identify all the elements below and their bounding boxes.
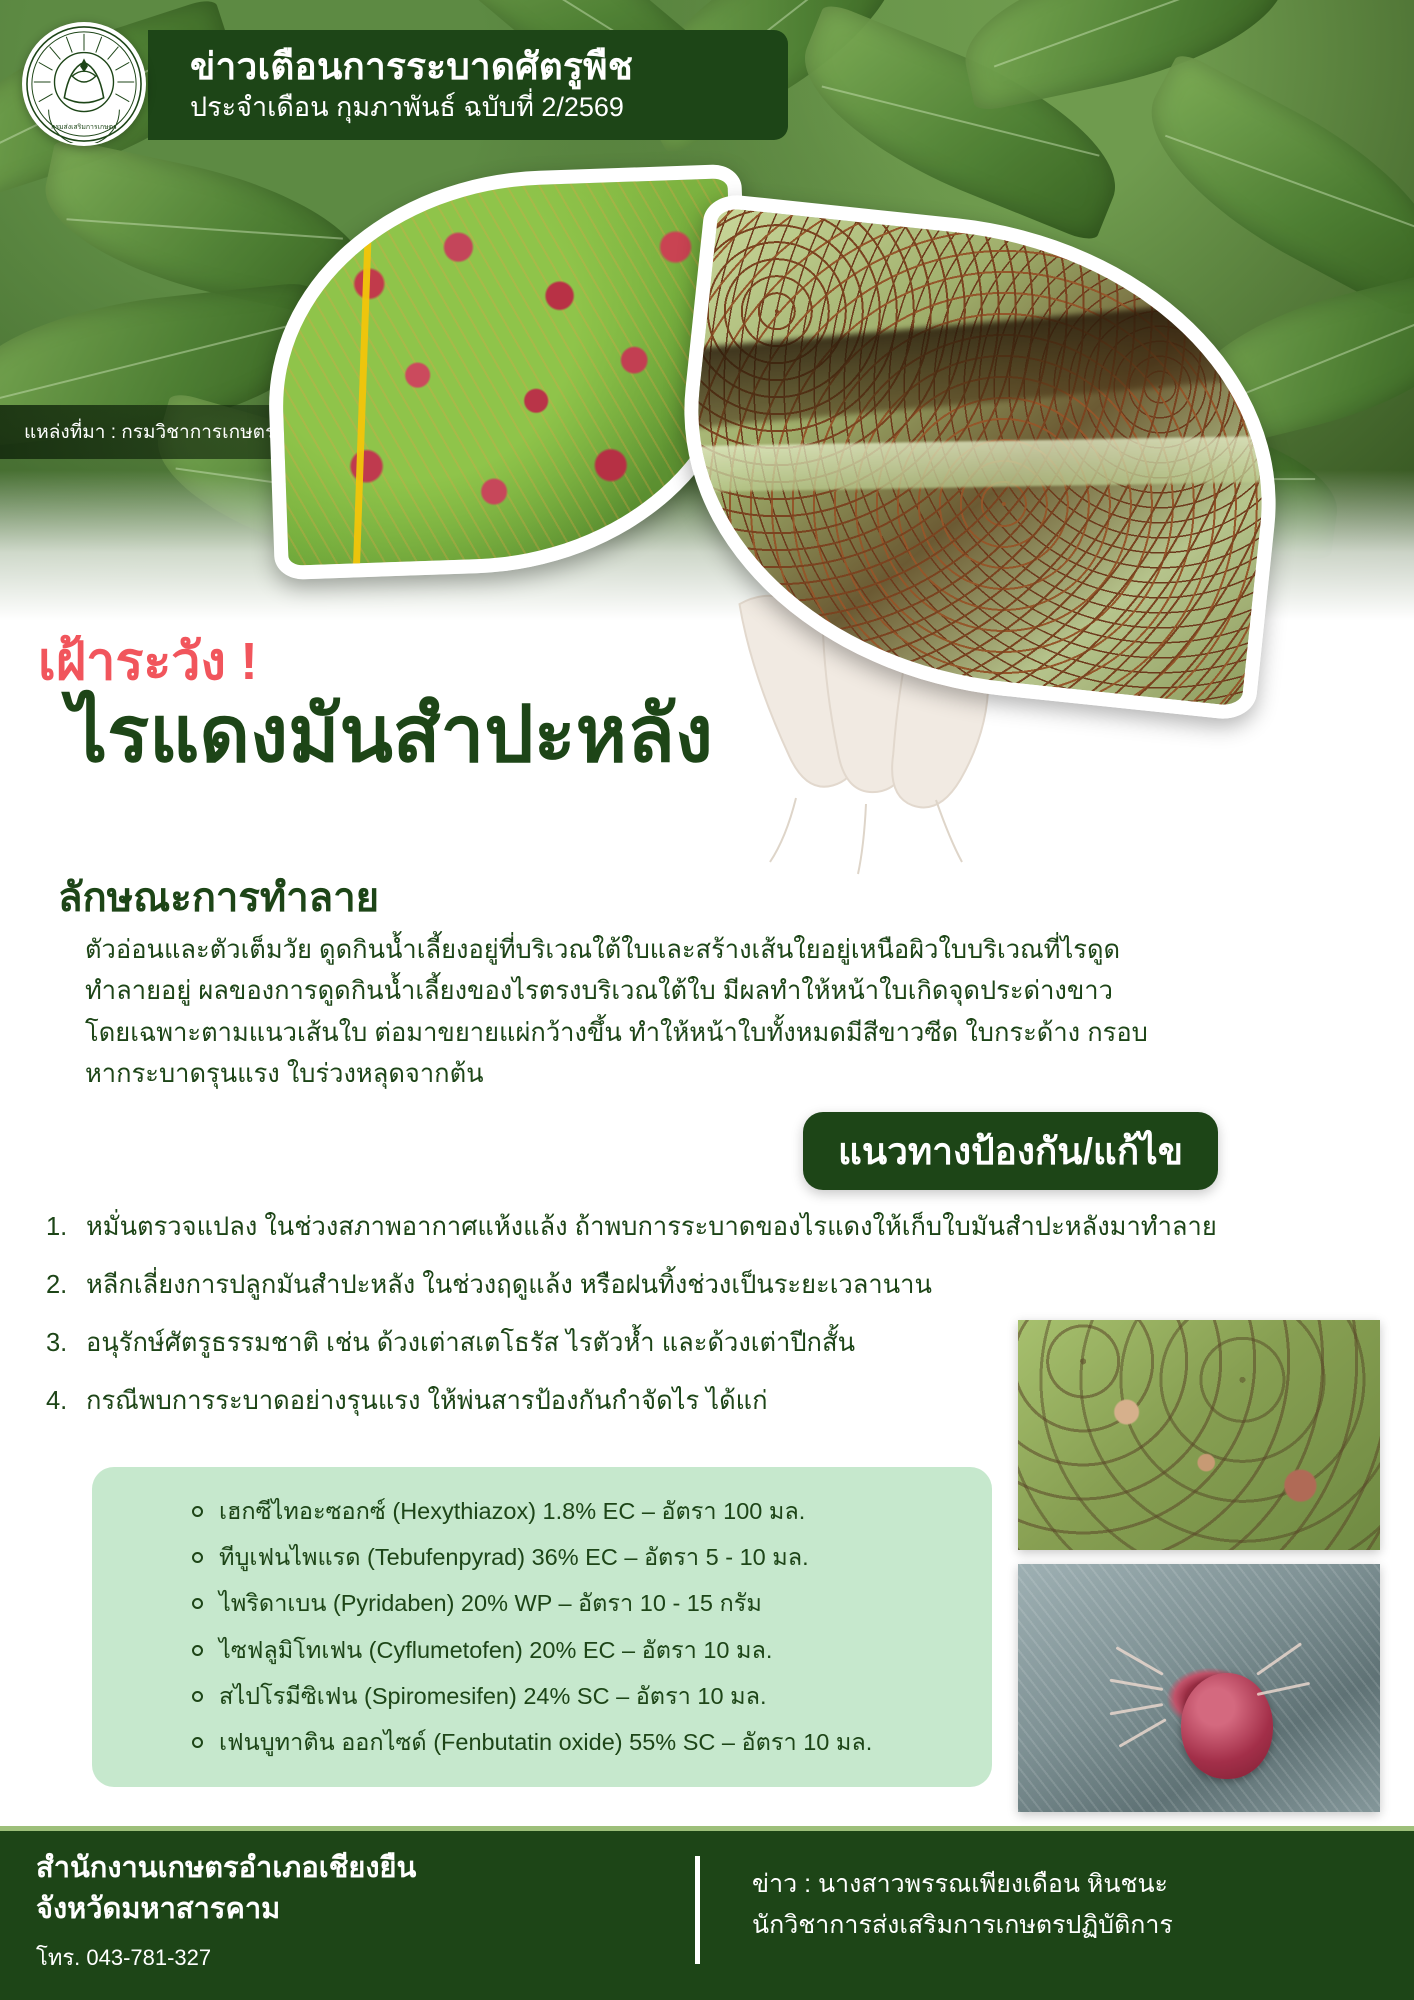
list-item: ไพริดาเบน (Pyridaben) 20% WP – อัตรา 10 …	[92, 1585, 992, 1622]
headline-block: เฝ้าระวัง ! ไรแดงมันสำปะหลัง	[38, 636, 713, 776]
circle-bullet-icon	[192, 1691, 203, 1702]
pesticide-text: เฟนบูทาติน ออกไซด์ (Fenbutatin oxide) 55…	[219, 1724, 872, 1761]
damage-line: โดยเฉพาะตามแนวเส้นใบ ต่อมาขยายแผ่กว้างขึ…	[85, 1013, 1185, 1054]
poster-root: กรมส่งเสริมการเกษตร ข่าวเตือนการระบาดศัต…	[0, 0, 1414, 2000]
damage-line: หากระบาดรุนแรง ใบร่วงหลุดจากต้น	[85, 1054, 1185, 1095]
list-item: 2. หลีกเลี่ยงการปลูกมันสำปะหลัง ในช่วงฤด…	[46, 1270, 1376, 1302]
photo-mites-on-leaf-surface	[1018, 1320, 1380, 1550]
seal-label: กรมส่งเสริมการเกษตร	[51, 123, 117, 131]
footer-reporter-role: นักวิชาการส่งเสริมการเกษตรปฏิบัติการ	[752, 1905, 1173, 1946]
department-seal-icon: กรมส่งเสริมการเกษตร	[22, 22, 146, 146]
list-item: เฟนบูทาติน ออกไซด์ (Fenbutatin oxide) 55…	[92, 1724, 992, 1761]
pesticide-text: สไปโรมีซิเฟน (Spiromesifen) 24% SC – อัต…	[219, 1678, 767, 1715]
list-item: สไปโรมีซิเฟน (Spiromesifen) 24% SC – อัต…	[92, 1678, 992, 1715]
footer-reporter-name: ข่าว : นางสาวพรรณเพียงเดือน หินชนะ	[752, 1864, 1173, 1905]
list-item-text: กรณีพบการระบาดอย่างรุนแรง ให้พ่นสารป้องก…	[86, 1386, 768, 1418]
list-item: ทีบูเฟนไพแรด (Tebufenpyrad) 36% EC – อัต…	[92, 1539, 992, 1576]
list-item-number: 3.	[46, 1328, 80, 1360]
page-title: ไรแดงมันสำปะหลัง	[68, 692, 713, 776]
circle-bullet-icon	[192, 1598, 203, 1609]
footer-organization: สำนักงานเกษตรอำเภอเชียงยืน จังหวัดมหาสาร…	[36, 1848, 416, 1975]
list-item-number: 1.	[46, 1212, 80, 1244]
prevention-banner: แนวทางป้องกัน/แก้ไข	[803, 1112, 1218, 1190]
footer-org-line1: สำนักงานเกษตรอำเภอเชียงยืน	[36, 1848, 416, 1889]
footer-telephone: โทร. 043-781-327	[36, 1940, 416, 1975]
footer-vertical-divider	[695, 1856, 700, 1964]
footer: สำนักงานเกษตรอำเภอเชียงยืน จังหวัดมหาสาร…	[0, 1826, 1414, 2000]
pesticide-text: ทีบูเฟนไพแรด (Tebufenpyrad) 36% EC – อัต…	[219, 1539, 809, 1576]
list-item-text: อนุรักษ์ศัตรูธรรมชาติ เช่น ด้วงเต่าสเตโธ…	[86, 1328, 855, 1360]
pesticide-list-box: เฮกซีไทอะซอกซ์ (Hexythiazox) 1.8% EC – อ…	[92, 1467, 992, 1787]
list-item-number: 4.	[46, 1386, 80, 1418]
circle-bullet-icon	[192, 1737, 203, 1748]
alert-label: เฝ้าระวัง !	[38, 636, 713, 688]
footer-org-line2: จังหวัดมหาสารคาม	[36, 1889, 416, 1930]
list-item: เฮกซีไทอะซอกซ์ (Hexythiazox) 1.8% EC – อ…	[92, 1493, 992, 1530]
damage-section-title: ลักษณะการทำลาย	[58, 865, 379, 929]
circle-bullet-icon	[192, 1645, 203, 1656]
pesticide-text: ไพริดาเบน (Pyridaben) 20% WP – อัตรา 10 …	[219, 1585, 762, 1622]
damage-line: ตัวอ่อนและตัวเต็มวัย ดูดกินน้ำเลี้ยงอยู่…	[85, 930, 1185, 971]
pesticide-text: เฮกซีไทอะซอกซ์ (Hexythiazox) 1.8% EC – อ…	[219, 1493, 805, 1530]
circle-bullet-icon	[192, 1506, 203, 1517]
circle-bullet-icon	[192, 1552, 203, 1563]
damage-line: ทำลายอยู่ ผลของการดูดกินน้ำเลี้ยงของไรตร…	[85, 971, 1185, 1012]
leaf-pale-edge	[659, 435, 1303, 493]
footer-reporter: ข่าว : นางสาวพรรณเพียงเดือน หินชนะ นักวิ…	[752, 1864, 1173, 1945]
footer-divider-rule	[0, 1826, 1414, 1831]
header-title-bar: ข่าวเตือนการระบาดศัตรูพืช ประจำเดือน กุม…	[148, 30, 788, 140]
header-title-line1: ข่าวเตือนการระบาดศัตรูพืช	[190, 48, 788, 87]
damage-description: ตัวอ่อนและตัวเต็มวัย ดูดกินน้ำเลี้ยงอยู่…	[85, 930, 1185, 1095]
list-item-text: หลีกเลี่ยงการปลูกมันสำปะหลัง ในช่วงฤดูแล…	[86, 1270, 932, 1302]
list-item-number: 2.	[46, 1270, 80, 1302]
leaf-shadow-band	[657, 287, 1303, 432]
list-item: 1. หมั่นตรวจแปลง ในช่วงสภาพอากาศแห้งแล้ง…	[46, 1212, 1376, 1244]
list-item: ไซฟลูมิโทเฟน (Cyflumetofen) 20% EC – อัต…	[92, 1632, 992, 1669]
list-item-text: หมั่นตรวจแปลง ในช่วงสภาพอากาศแห้งแล้ง ถ้…	[86, 1212, 1217, 1244]
pesticide-text: ไซฟลูมิโทเฟน (Cyflumetofen) 20% EC – อัต…	[219, 1632, 772, 1669]
mite-body-shape	[1181, 1673, 1273, 1779]
photo-red-mite-closeup	[1018, 1564, 1380, 1812]
header-title-line2: ประจำเดือน กุมภาพันธ์ ฉบับที่ 2/2569	[190, 93, 788, 121]
